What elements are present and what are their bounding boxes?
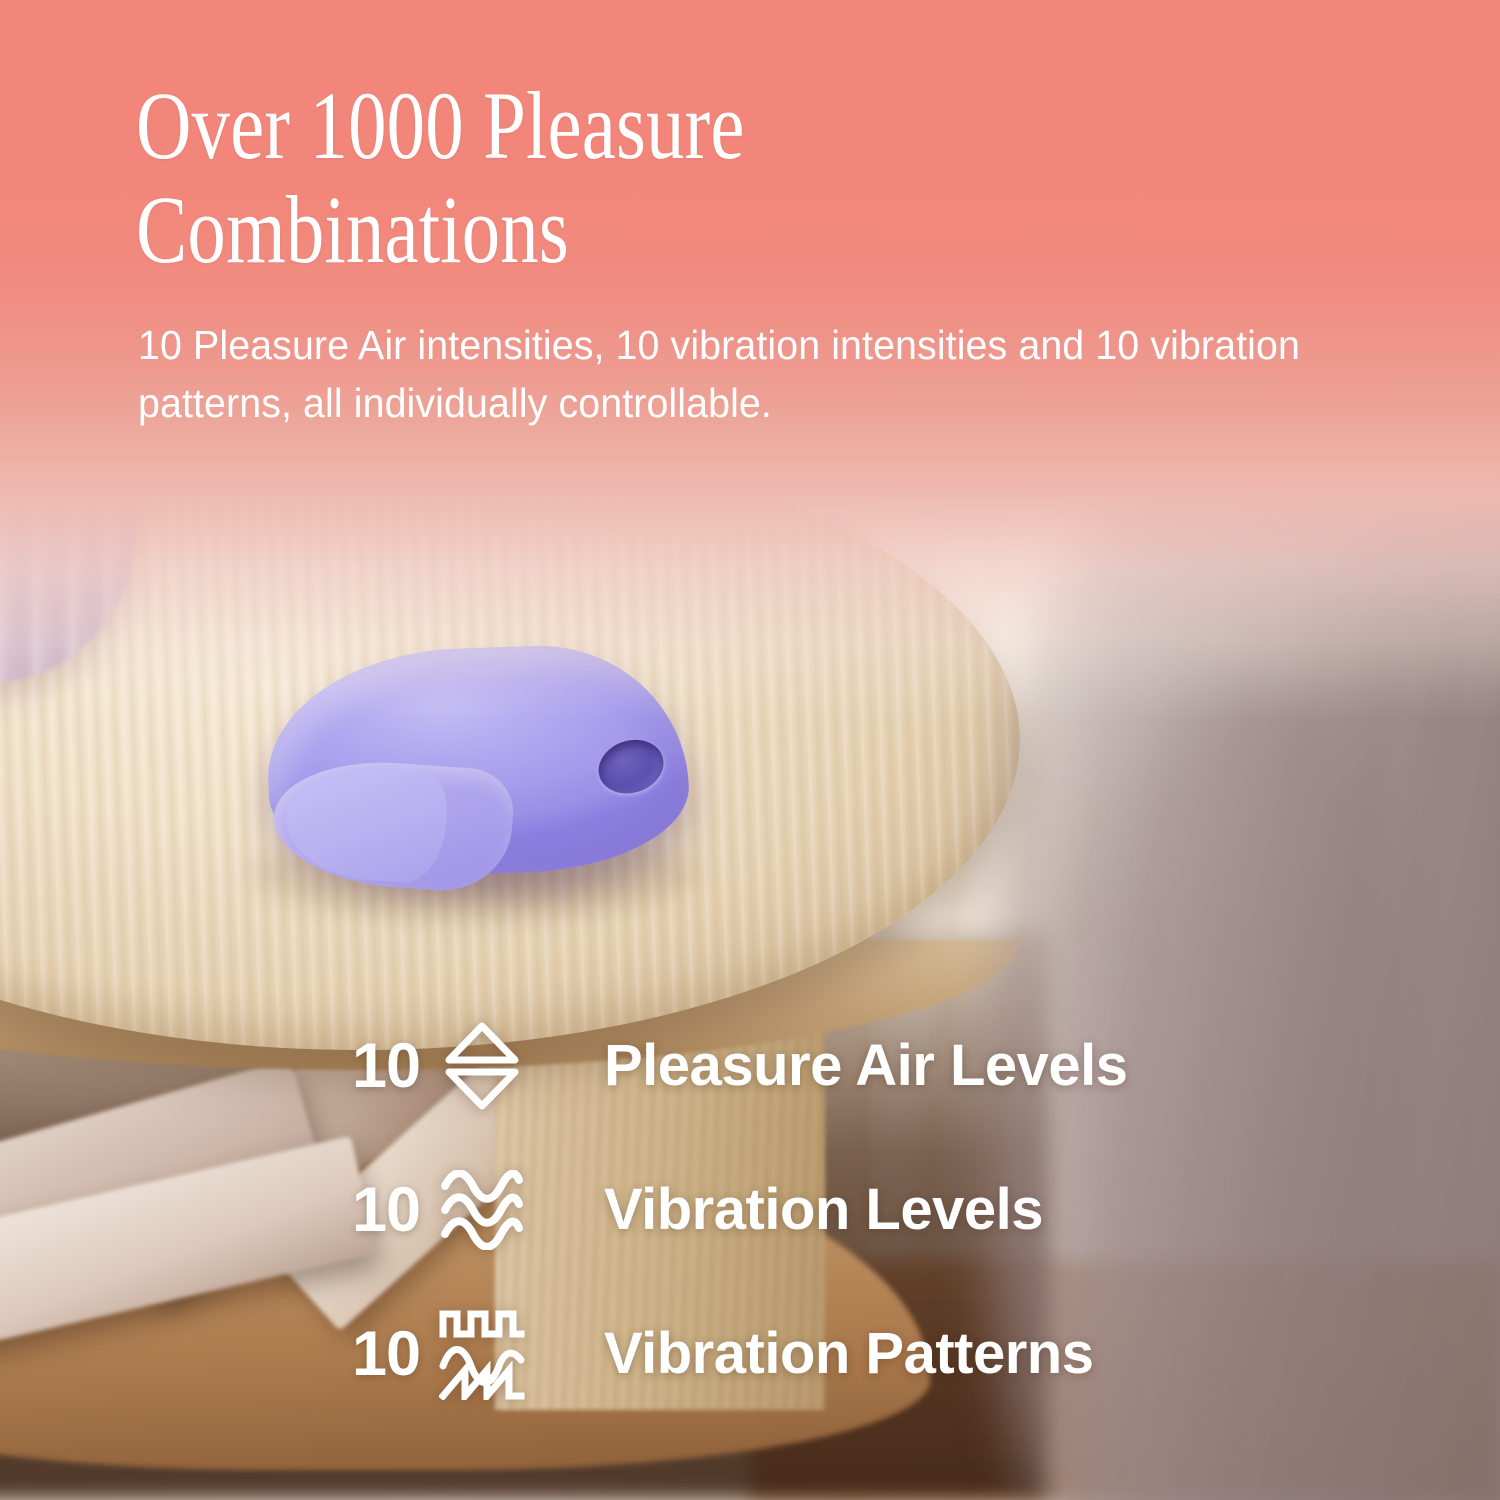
waveform-patterns-icon	[436, 1308, 528, 1400]
feature-label: Vibration Patterns	[604, 1325, 1094, 1383]
feature-count: 10	[352, 1323, 436, 1386]
up-down-triangles-icon	[436, 1020, 528, 1112]
feature-label: Pleasure Air Levels	[604, 1037, 1128, 1095]
feature-count: 10	[352, 1179, 436, 1242]
feature-list: 10 Pleasure Air Levels 10	[352, 1012, 1352, 1444]
feature-count: 10	[352, 1035, 436, 1098]
feature-row: 10 Vibration Patterns	[352, 1300, 1352, 1408]
page-title: Over 1000 Pleasure Combinations	[136, 74, 984, 281]
feature-row: 10 Vibration Levels	[352, 1156, 1352, 1264]
product-feature-banner: Over 1000 Pleasure Combinations 10 Pleas…	[0, 0, 1500, 1500]
stacked-waves-icon	[436, 1164, 528, 1256]
subtitle-text: 10 Pleasure Air intensities, 10 vibratio…	[138, 316, 1357, 432]
content-layer: Over 1000 Pleasure Combinations 10 Pleas…	[0, 0, 1500, 1500]
feature-row: 10 Pleasure Air Levels	[352, 1012, 1352, 1120]
feature-label: Vibration Levels	[604, 1181, 1043, 1239]
